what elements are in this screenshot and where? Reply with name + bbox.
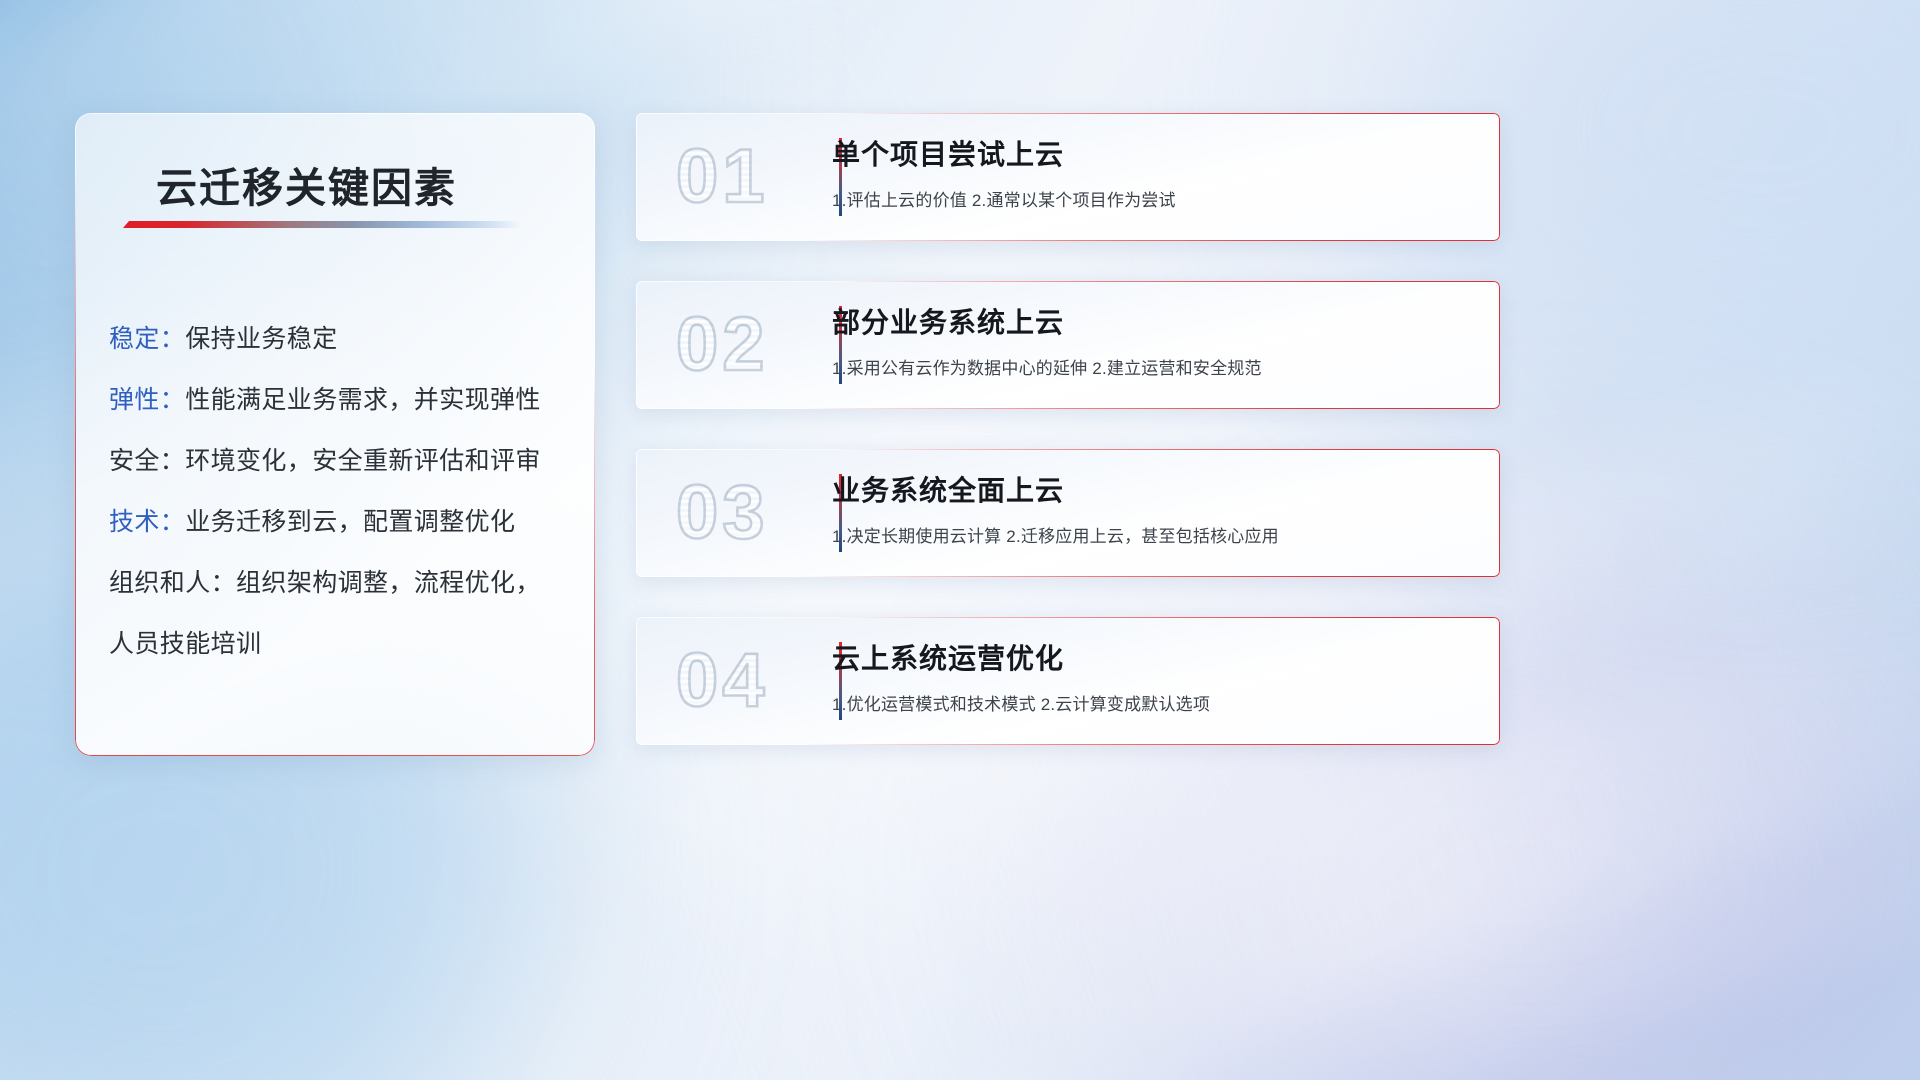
stage-card-body: 部分业务系统上云 1.采用公有云作为数据中心的延伸 2.建立运营和安全规范 (832, 301, 1472, 379)
list-item: 安全：环境变化，安全重新评估和评审 (109, 431, 579, 492)
stage-card-list: 01 单个项目尝试上云 1.评估上云的价值 2.通常以某个项目作为尝试 02 部… (636, 113, 1500, 785)
title-underline-rule (123, 221, 521, 228)
list-item: 人员技能培训 (109, 614, 579, 675)
stage-number-watermark: 02 (676, 299, 826, 391)
factor-label: 组织和人： (109, 569, 236, 597)
factor-text: 保持业务稳定 (185, 325, 337, 353)
list-item: 弹性：性能满足业务需求，并实现弹性 (109, 370, 579, 431)
factor-text: 性能满足业务需求，并实现弹性 (185, 386, 541, 414)
factor-label: 稳定： (109, 325, 185, 353)
stage-card[interactable]: 01 单个项目尝试上云 1.评估上云的价值 2.通常以某个项目作为尝试 (636, 113, 1500, 241)
list-item: 稳定：保持业务稳定 (109, 309, 579, 370)
factor-text: 组织架构调整，流程优化， (236, 569, 541, 597)
factor-label: 弹性： (109, 386, 185, 414)
stage-card-body: 云上系统运营优化 1.优化运营模式和技术模式 2.云计算变成默认选项 (832, 637, 1472, 715)
stage-subtitle: 1.决定长期使用云计算 2.迁移应用上云，甚至包括核心应用 (832, 522, 1472, 547)
list-item: 组织和人：组织架构调整，流程优化， (109, 553, 579, 614)
stage-subtitle: 1.优化运营模式和技术模式 2.云计算变成默认选项 (832, 690, 1472, 715)
stage-number-watermark: 03 (676, 467, 826, 559)
factor-text: 业务迁移到云，配置调整优化 (185, 508, 515, 536)
stage-title: 部分业务系统上云 (832, 301, 1472, 341)
stage-card[interactable]: 02 部分业务系统上云 1.采用公有云作为数据中心的延伸 2.建立运营和安全规范 (636, 281, 1500, 409)
stage-card-body: 业务系统全面上云 1.决定长期使用云计算 2.迁移应用上云，甚至包括核心应用 (832, 469, 1472, 547)
factor-text: 环境变化，安全重新评估和评审 (185, 447, 541, 475)
stage-number-watermark: 04 (676, 635, 826, 727)
factor-label: 安全： (109, 447, 185, 475)
factor-text: 人员技能培训 (109, 630, 261, 658)
stage-card-body: 单个项目尝试上云 1.评估上云的价值 2.通常以某个项目作为尝试 (832, 133, 1472, 211)
stage-number-watermark: 01 (676, 131, 826, 223)
key-factors-list: 稳定：保持业务稳定 弹性：性能满足业务需求，并实现弹性 安全：环境变化，安全重新… (109, 309, 579, 675)
stage-card[interactable]: 04 云上系统运营优化 1.优化运营模式和技术模式 2.云计算变成默认选项 (636, 617, 1500, 745)
panel-title: 云迁移关键因素 (156, 154, 457, 214)
stage-card[interactable]: 03 业务系统全面上云 1.决定长期使用云计算 2.迁移应用上云，甚至包括核心应… (636, 449, 1500, 577)
key-factors-panel: 云迁移关键因素 稳定：保持业务稳定 弹性：性能满足业务需求，并实现弹性 安全：环… (75, 113, 595, 756)
stage-subtitle: 1.评估上云的价值 2.通常以某个项目作为尝试 (832, 186, 1472, 211)
stage-title: 业务系统全面上云 (832, 469, 1472, 509)
factor-label: 技术： (109, 508, 185, 536)
stage-title: 云上系统运营优化 (832, 637, 1472, 677)
stage-subtitle: 1.采用公有云作为数据中心的延伸 2.建立运营和安全规范 (832, 354, 1472, 379)
list-item: 技术：业务迁移到云，配置调整优化 (109, 492, 579, 553)
stage-title: 单个项目尝试上云 (832, 133, 1472, 173)
